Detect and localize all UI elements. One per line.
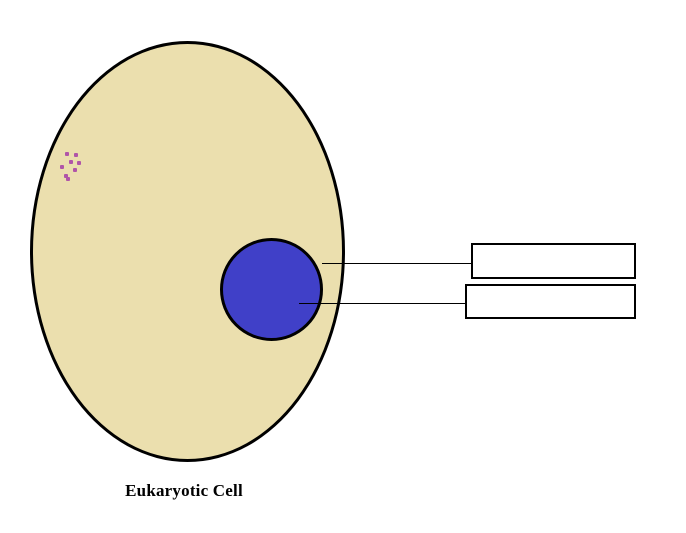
ribosome-dot xyxy=(65,152,69,156)
ribosome-dot xyxy=(69,160,73,164)
callout-answer-box-2[interactable] xyxy=(465,284,636,319)
cell-diagram-canvas: Eukaryotic Cell xyxy=(0,0,686,533)
callout-leader-line-2 xyxy=(299,303,471,304)
callout-answer-text-1[interactable] xyxy=(473,245,634,277)
callout-answer-text-2[interactable] xyxy=(467,286,634,317)
ribosome-dot xyxy=(73,168,77,172)
ribosome-dot xyxy=(74,153,78,157)
nucleus-shape[interactable] xyxy=(220,238,323,341)
ribosome-cluster xyxy=(60,152,86,182)
ribosome-dot xyxy=(60,165,64,169)
callout-answer-box-1[interactable] xyxy=(471,243,636,279)
callout-leader-line-1 xyxy=(322,263,471,264)
ribosome-dot xyxy=(77,161,81,165)
ribosome-dot xyxy=(66,177,70,181)
diagram-caption: Eukaryotic Cell xyxy=(0,481,368,501)
